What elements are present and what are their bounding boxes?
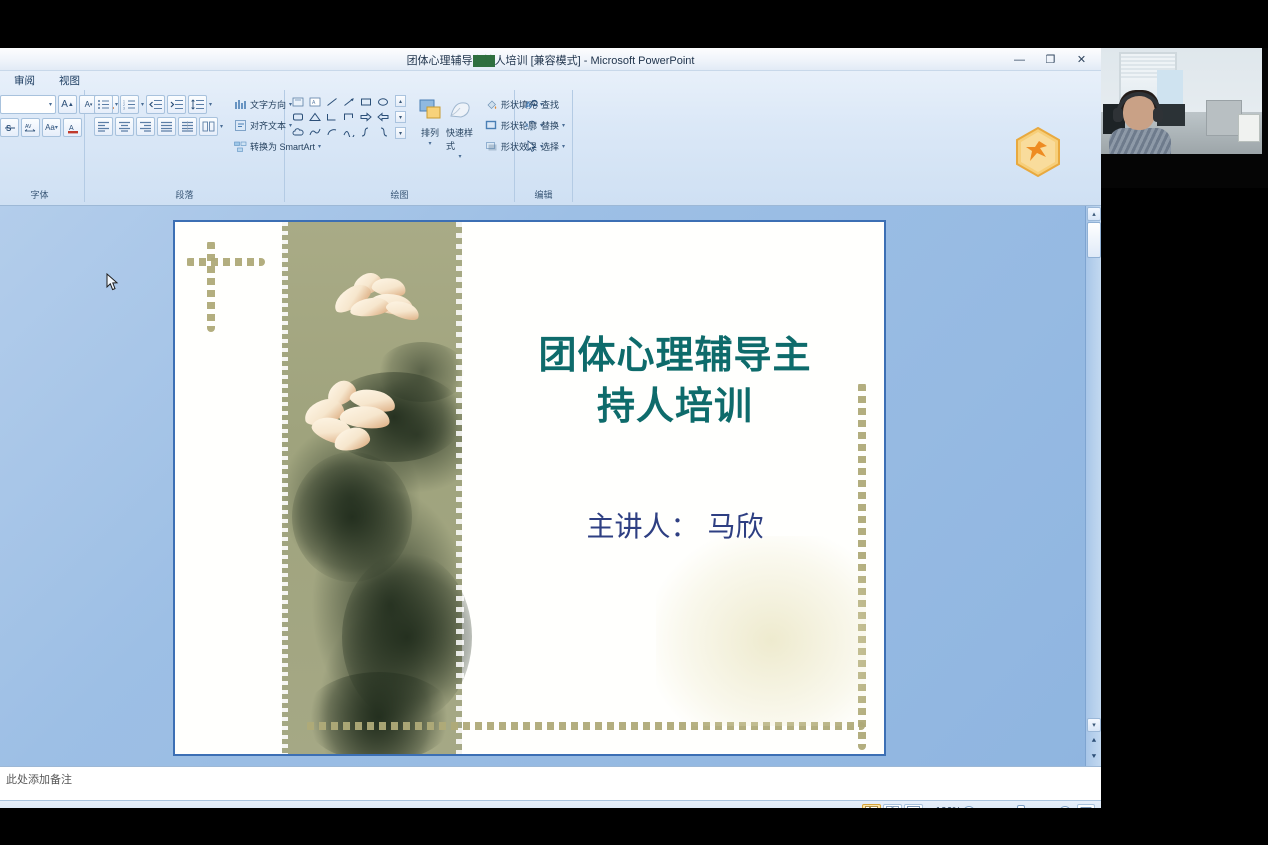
- zoom-slider[interactable]: − +: [963, 804, 1071, 809]
- tab-view[interactable]: 视图: [49, 71, 90, 90]
- quick-styles-icon: [446, 97, 474, 125]
- svg-text:b: b: [530, 127, 533, 132]
- webcam-person: [1109, 92, 1171, 154]
- arrange-icon: [416, 97, 444, 125]
- group-label-editing: 编辑: [520, 189, 567, 202]
- align-left-icon[interactable]: [94, 117, 113, 136]
- shape-textbox-icon[interactable]: [290, 95, 306, 109]
- align-text-icon: [234, 119, 247, 132]
- select-icon: [525, 140, 538, 153]
- shape-line-icon[interactable]: [324, 95, 340, 109]
- align-center-icon[interactable]: [115, 117, 134, 136]
- ribbon-group-font: ▾ A▲ A▾ Aa S: [0, 90, 85, 202]
- replace-button[interactable]: ab 替换▾: [522, 116, 568, 134]
- select-label: 选择: [541, 140, 559, 153]
- shape-triangle-icon[interactable]: [307, 110, 323, 124]
- shape-right-brace-icon[interactable]: [375, 125, 391, 139]
- top-left-wave-vertical: [207, 240, 215, 332]
- align-right-icon[interactable]: [136, 117, 155, 136]
- ribbon-group-editing: A 查找 ab 替换▾: [515, 90, 573, 202]
- restore-button[interactable]: ❐: [1035, 49, 1066, 70]
- hummingbird-badge[interactable]: [1015, 127, 1061, 177]
- slide-canvas[interactable]: 团体心理辅导主 持人培训 主讲人： 马欣: [173, 220, 886, 756]
- reading-view-button[interactable]: [904, 804, 923, 809]
- fit-slide-to-window-button[interactable]: [1077, 804, 1095, 809]
- find-label: 查找: [541, 98, 559, 111]
- ribbon-tab-row: 审阅 视图: [0, 71, 1101, 90]
- arrange-button[interactable]: 排列 ▾: [416, 95, 444, 147]
- slide-title-line1: 团体心理辅导主: [475, 330, 875, 381]
- distribute-icon[interactable]: [178, 117, 197, 136]
- scrollbar-thumb[interactable]: [1087, 222, 1101, 258]
- webcam-person-body: [1109, 128, 1171, 156]
- minimize-button[interactable]: —: [1004, 49, 1035, 70]
- ribbon-groups: ▾ A▲ A▾ Aa S: [0, 90, 1101, 205]
- slide-scrollbar[interactable]: ▴ ▾ ⯅ ⯆: [1085, 206, 1101, 766]
- increase-indent-icon[interactable]: [167, 95, 186, 114]
- lotus-flower-top: [324, 274, 432, 326]
- webcam-room-background: [1101, 48, 1268, 188]
- shape-curve-icon[interactable]: [341, 125, 357, 139]
- line-spacing-icon[interactable]: [188, 95, 207, 114]
- shape-rounded-rect-icon[interactable]: [290, 110, 306, 124]
- title-bar: 团体心理辅导主持人培训 [兼容模式] - Microsoft PowerPoin…: [0, 48, 1101, 71]
- strikethrough-icon[interactable]: S: [0, 118, 19, 137]
- shape-effects-icon: [485, 140, 498, 153]
- svg-text:3: 3: [123, 107, 125, 111]
- screen: 团体心理辅导主持人培训 [兼容模式] - Microsoft PowerPoin…: [0, 0, 1268, 845]
- tab-review[interactable]: 审阅: [4, 71, 45, 90]
- watercolor-wash: [656, 536, 866, 726]
- replace-icon: ab: [525, 119, 538, 132]
- font-color-icon[interactable]: A: [63, 118, 82, 137]
- shape-arrow-icon[interactable]: [341, 95, 357, 109]
- previous-slide-button[interactable]: ⯅: [1087, 733, 1101, 748]
- webcam-cabinet: [1206, 100, 1242, 136]
- group-label-paragraph: 段落: [90, 189, 279, 202]
- grow-font-icon[interactable]: A▲: [58, 95, 77, 114]
- close-button[interactable]: ✕: [1066, 49, 1097, 70]
- bullets-icon[interactable]: [94, 95, 113, 114]
- mouse-cursor: [106, 273, 120, 297]
- ribbon-group-paragraph: ▾ 123 ▾: [85, 90, 285, 202]
- shape-cloud-icon[interactable]: [290, 125, 306, 139]
- replace-label: 替换: [541, 119, 559, 132]
- webcam-letterbox-bottom: [1101, 154, 1268, 188]
- lotus-ink-artwork: [282, 222, 462, 754]
- window-title: 团体心理辅导主持人培训 [兼容模式] - Microsoft PowerPoin…: [0, 52, 1101, 68]
- font-size-input[interactable]: ▾: [0, 95, 56, 114]
- quick-styles-button[interactable]: 快速样式 ▾: [446, 95, 474, 160]
- shapes-gallery[interactable]: A: [290, 95, 391, 139]
- shared-screen-region: 团体心理辅导主持人培训 [兼容模式] - Microsoft PowerPoin…: [0, 48, 1101, 808]
- shape-elbow2-icon[interactable]: [341, 110, 357, 124]
- shape-left-brace-icon[interactable]: [358, 125, 374, 139]
- slide-title-line2: 持人培训: [475, 381, 875, 432]
- powerpoint-window: 团体心理辅导主持人培训 [兼容模式] - Microsoft PowerPoin…: [0, 48, 1101, 808]
- webcam-picture-frame: [1238, 114, 1260, 142]
- shape-rectangle-icon[interactable]: [358, 95, 374, 109]
- shape-elbow-icon[interactable]: [324, 110, 340, 124]
- zoom-out-button[interactable]: −: [963, 806, 975, 809]
- window-title-selected: 主持: [473, 55, 495, 67]
- webcam-headset-earcup-right: [1153, 108, 1163, 122]
- shape-freeform-icon[interactable]: [307, 125, 323, 139]
- find-icon: A: [525, 98, 538, 111]
- svg-text:A: A: [525, 100, 532, 110]
- ribbon-group-drawing: A: [285, 90, 515, 202]
- svg-text:a: a: [525, 123, 529, 129]
- top-left-wave-horizontal: [185, 258, 265, 266]
- view-buttons: [862, 804, 923, 809]
- notes-pane[interactable]: 此处添加备注: [0, 766, 1101, 800]
- webcam-headset-earcup-left: [1113, 108, 1123, 122]
- zoom-in-button[interactable]: +: [1059, 806, 1071, 809]
- character-spacing-icon[interactable]: AV: [21, 118, 40, 137]
- slide-edit-area[interactable]: 团体心理辅导主 持人培训 主讲人： 马欣: [0, 206, 1101, 766]
- group-label-font: 字体: [0, 189, 79, 202]
- text-direction-icon: [234, 98, 247, 111]
- webcam-letterbox-right: [1262, 48, 1268, 188]
- arrange-label: 排列: [421, 126, 439, 139]
- svg-text:AV: AV: [25, 124, 32, 130]
- change-case-icon[interactable]: Aa▾: [42, 118, 61, 137]
- align-text-label: 对齐文本: [250, 119, 286, 132]
- smartart-icon: [234, 140, 247, 153]
- select-button[interactable]: 选择▾: [522, 137, 568, 155]
- shape-fill-icon: [485, 98, 498, 111]
- quick-styles-label: 快速样式: [446, 126, 474, 152]
- shapes-gallery-scroll[interactable]: ▴ ▾ ▾: [395, 95, 406, 139]
- decrease-indent-icon[interactable]: [146, 95, 165, 114]
- slide-background: 团体心理辅导主 持人培训 主讲人： 马欣: [175, 222, 884, 754]
- shape-right-arrow-icon[interactable]: [358, 110, 374, 124]
- webcam-video-panel[interactable]: [1101, 48, 1268, 188]
- shapes-gallery-more[interactable]: ▾: [395, 127, 406, 139]
- group-label-drawing: 绘图: [290, 189, 509, 202]
- shape-outline-icon: [485, 119, 498, 132]
- zoom-percentage[interactable]: 106%: [935, 806, 961, 808]
- window-title-suffix: 人培训 [兼容模式] - Microsoft PowerPoint: [495, 55, 695, 67]
- shapes-scroll-down[interactable]: ▾: [395, 111, 406, 123]
- next-slide-button[interactable]: ⯆: [1087, 749, 1101, 764]
- ribbon: 审阅 视图 ▾ A▲ A▾ Aa: [0, 71, 1101, 206]
- find-button[interactable]: A 查找: [522, 95, 568, 113]
- svg-text:A: A: [69, 125, 74, 132]
- shape-textbox2-icon[interactable]: A: [307, 95, 323, 109]
- numbering-icon[interactable]: 123: [120, 95, 139, 114]
- shape-arc-icon[interactable]: [324, 125, 340, 139]
- window-title-prefix: 团体心理辅导: [407, 55, 473, 67]
- shape-oval-icon[interactable]: [375, 95, 391, 109]
- scroll-up-button[interactable]: ▴: [1087, 207, 1101, 221]
- shape-left-arrow-icon[interactable]: [375, 110, 391, 124]
- shapes-scroll-up[interactable]: ▴: [395, 95, 406, 107]
- normal-view-button[interactable]: [862, 804, 881, 809]
- status-bar: 106% − +: [0, 800, 1101, 808]
- justify-icon[interactable]: [157, 117, 176, 136]
- zoom-slider-thumb[interactable]: [1017, 805, 1025, 809]
- window-controls: — ❐ ✕: [1004, 49, 1097, 70]
- lotus-flower-bottom: [300, 382, 412, 452]
- scroll-down-button[interactable]: ▾: [1087, 718, 1101, 732]
- text-direction-label: 文字方向: [250, 98, 286, 111]
- slide-sorter-button[interactable]: [883, 804, 902, 809]
- columns-icon[interactable]: [199, 117, 218, 136]
- slide-title-text[interactable]: 团体心理辅导主 持人培训: [475, 330, 875, 432]
- slide-subtitle-text[interactable]: 主讲人： 马欣: [475, 510, 875, 544]
